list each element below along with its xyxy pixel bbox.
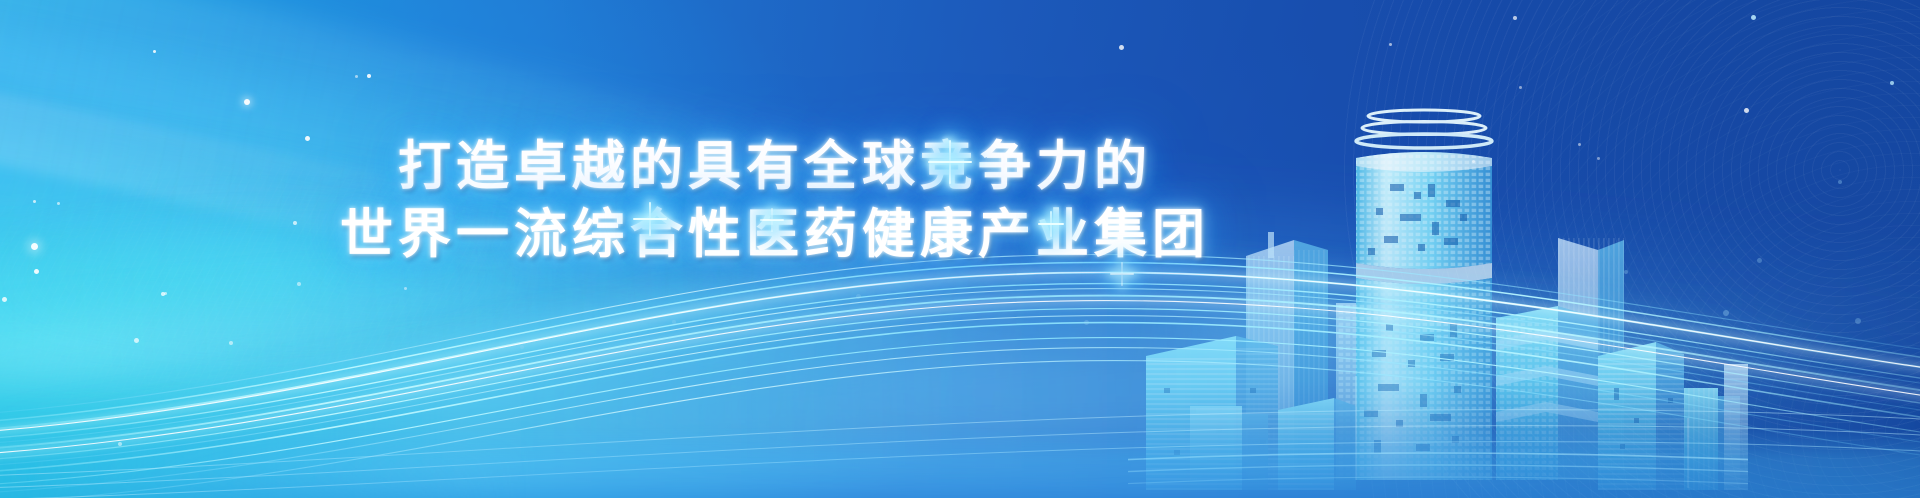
building-back-midleft <box>1336 303 1406 480</box>
ground-reflection-lines <box>1128 453 1748 484</box>
building-back-left <box>1246 232 1328 480</box>
hero-banner: 打造卓越的具有全球竞争力的 世界一流综合性医药健康产业集团 <box>0 0 1920 498</box>
building-front-left-small <box>1190 406 1268 490</box>
headline-block: 打造卓越的具有全球竞争力的 世界一流综合性医药健康产业集团 <box>0 132 1920 268</box>
building-ribbed-right <box>1598 342 1684 490</box>
building-front-left <box>1146 336 1278 490</box>
building-chevron-tower <box>1496 306 1598 480</box>
headline-line-1: 打造卓越的具有全球竞争力的 <box>0 132 1550 200</box>
mist-band-3 <box>1179 286 1920 394</box>
building-front-mid <box>1278 398 1356 490</box>
mist-band-1 <box>0 247 1022 414</box>
antenna-spires <box>1356 376 1688 488</box>
building-back-right <box>1558 238 1624 480</box>
water-reflection-plane <box>0 428 1920 498</box>
mist-band-2 <box>518 296 1822 474</box>
headline-line-2: 世界一流综合性医药健康产业集团 <box>0 200 1550 268</box>
building-far-right-b <box>1724 364 1748 490</box>
building-far-right-a <box>1684 388 1740 490</box>
